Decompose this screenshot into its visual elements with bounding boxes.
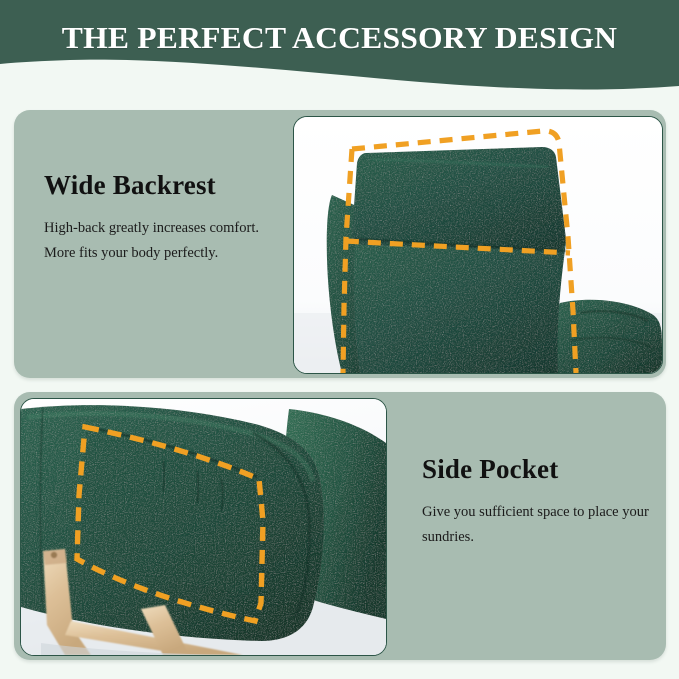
- pocket-photo-illustration: [21, 399, 386, 655]
- backrest-photo-illustration: [294, 117, 662, 373]
- pocket-description: Give you sufficient space to place your …: [422, 500, 652, 550]
- header-banner: THE PERFECT ACCESSORY DESIGN: [0, 0, 679, 92]
- pocket-photo: [20, 398, 387, 656]
- backrest-text-block: Wide Backrest High-back greatly increase…: [44, 170, 294, 266]
- pocket-text-block: Side Pocket Give you sufficient space to…: [422, 454, 652, 550]
- page-title: THE PERFECT ACCESSORY DESIGN: [0, 20, 679, 56]
- infographic-page: THE PERFECT ACCESSORY DESIGN Wide Backre…: [0, 0, 679, 679]
- backrest-description: High-back greatly increases comfort. Mor…: [44, 216, 294, 266]
- feature-card-pocket: Side Pocket Give you sufficient space to…: [14, 392, 666, 660]
- feature-card-backrest: Wide Backrest High-back greatly increase…: [14, 110, 666, 378]
- backrest-photo: [293, 116, 663, 374]
- backrest-title: Wide Backrest: [44, 170, 294, 200]
- pocket-title: Side Pocket: [422, 454, 652, 484]
